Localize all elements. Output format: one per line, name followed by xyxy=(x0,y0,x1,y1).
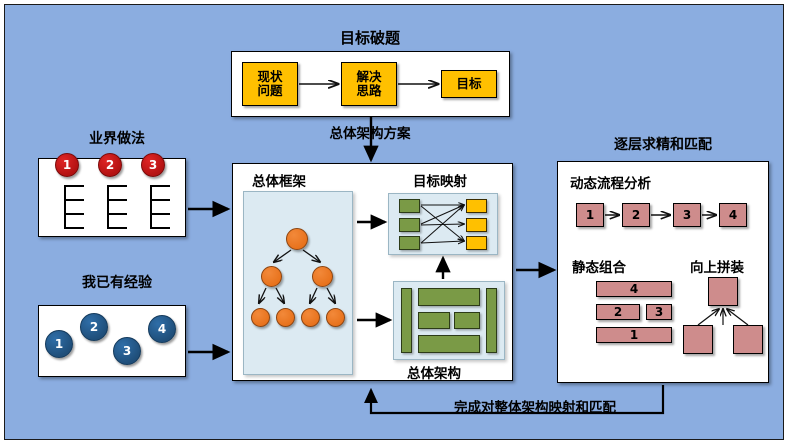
assemble-label: 向上拼装 xyxy=(690,256,744,276)
industry-column-1-tick-2 xyxy=(64,199,84,201)
architecture-mid-bar-left[interactable] xyxy=(418,312,450,329)
industry-column-2-tick-2 xyxy=(107,199,127,201)
top-flow-step-1-line1: 现状 xyxy=(257,70,282,84)
industry-column-3-tick-1 xyxy=(150,185,170,187)
mapping-source-3[interactable] xyxy=(399,236,420,250)
tree-mid-node-2[interactable] xyxy=(312,266,333,287)
industry-title: 业界做法 xyxy=(42,128,192,148)
static-row-1-block-1[interactable]: 4 xyxy=(596,281,672,297)
architecture-left-bar[interactable] xyxy=(401,288,412,353)
experience-title: 我已有经验 xyxy=(42,272,192,292)
dynamic-step-1[interactable]: 1 xyxy=(576,203,604,227)
industry-badge-1[interactable]: 1 xyxy=(55,153,79,177)
dynamic-step-2[interactable]: 2 xyxy=(622,203,650,227)
industry-column-3-stem xyxy=(150,185,152,228)
top-flow-step-2-line1: 解决 xyxy=(356,70,381,84)
top-flow-step-2[interactable]: 解决 思路 xyxy=(341,62,397,106)
experience-node-4[interactable]: 4 xyxy=(148,315,176,343)
dynamic-step-3[interactable]: 3 xyxy=(673,203,701,227)
top-flow-step-1-line2: 问题 xyxy=(257,84,282,98)
framework-box xyxy=(243,191,353,375)
experience-node-2[interactable]: 2 xyxy=(80,313,108,341)
industry-column-1-tick-1 xyxy=(64,185,84,187)
architecture-top-bar[interactable] xyxy=(418,288,480,306)
architecture-mid-bar-right[interactable] xyxy=(454,312,480,329)
industry-badge-3[interactable]: 3 xyxy=(141,153,165,177)
top-flow-step-3-line1: 目标 xyxy=(456,77,481,91)
assemble-child-block-2[interactable] xyxy=(733,325,763,354)
industry-badge-2[interactable]: 2 xyxy=(98,153,122,177)
mapping-target-3[interactable] xyxy=(466,236,487,250)
industry-column-3-tick-3 xyxy=(150,213,170,215)
static-label: 静态组合 xyxy=(572,256,626,276)
mapping-target-1[interactable] xyxy=(466,199,487,213)
tree-mid-node-1[interactable] xyxy=(261,266,282,287)
dynamic-step-4[interactable]: 4 xyxy=(719,203,747,227)
industry-column-3-tick-4 xyxy=(150,227,170,229)
static-row-2-block-1[interactable]: 2 xyxy=(596,304,640,320)
assemble-parent-block[interactable] xyxy=(708,277,738,306)
top-flow-step-3[interactable]: 目标 xyxy=(441,70,497,98)
industry-column-1-tick-3 xyxy=(64,213,84,215)
assemble-child-block-1[interactable] xyxy=(683,325,713,354)
industry-column-1-stem xyxy=(64,185,66,228)
mapping-source-1[interactable] xyxy=(399,199,420,213)
tree-leaf-node-1[interactable] xyxy=(251,308,270,327)
top-flow-step-1[interactable]: 现状 问题 xyxy=(242,62,298,106)
feedback-label: 完成对整体架构映射和匹配 xyxy=(420,396,650,416)
industry-column-2-tick-4 xyxy=(107,227,127,229)
static-row-3-block-1[interactable]: 1 xyxy=(596,327,672,343)
tree-leaf-node-4[interactable] xyxy=(326,308,345,327)
architecture-label: 总体架构 xyxy=(407,362,461,382)
tree-root-node[interactable] xyxy=(286,228,308,250)
industry-column-1-tick-4 xyxy=(64,227,84,229)
static-row-2-block-2[interactable]: 3 xyxy=(646,304,672,320)
dynamic-label: 动态流程分析 xyxy=(570,172,651,192)
tree-leaf-node-3[interactable] xyxy=(301,308,320,327)
mapping-target-2[interactable] xyxy=(466,218,487,232)
top-flow-step-2-line2: 思路 xyxy=(356,84,381,98)
architecture-right-bar[interactable] xyxy=(486,288,497,353)
industry-column-2-stem xyxy=(107,185,109,228)
experience-node-1[interactable]: 1 xyxy=(45,330,73,358)
mapping-label: 目标映射 xyxy=(413,170,467,190)
framework-label: 总体框架 xyxy=(252,170,306,190)
experience-node-3[interactable]: 3 xyxy=(113,337,141,365)
architecture-bottom-bar[interactable] xyxy=(418,335,480,353)
center-top-label: 总体架构方案 xyxy=(275,122,465,142)
industry-column-2-tick-3 xyxy=(107,213,127,215)
tree-leaf-node-2[interactable] xyxy=(276,308,295,327)
industry-column-2-tick-1 xyxy=(107,185,127,187)
top-flow-title: 目标破题 xyxy=(280,27,460,48)
mapping-source-2[interactable] xyxy=(399,218,420,232)
diagram-canvas: 目标破题 现状 问题 解决 思路 目标 总体架构方案 业界做法 1 2 3 我已… xyxy=(0,0,790,446)
right-title: 逐层求精和匹配 xyxy=(578,134,748,154)
industry-column-3-tick-2 xyxy=(150,199,170,201)
